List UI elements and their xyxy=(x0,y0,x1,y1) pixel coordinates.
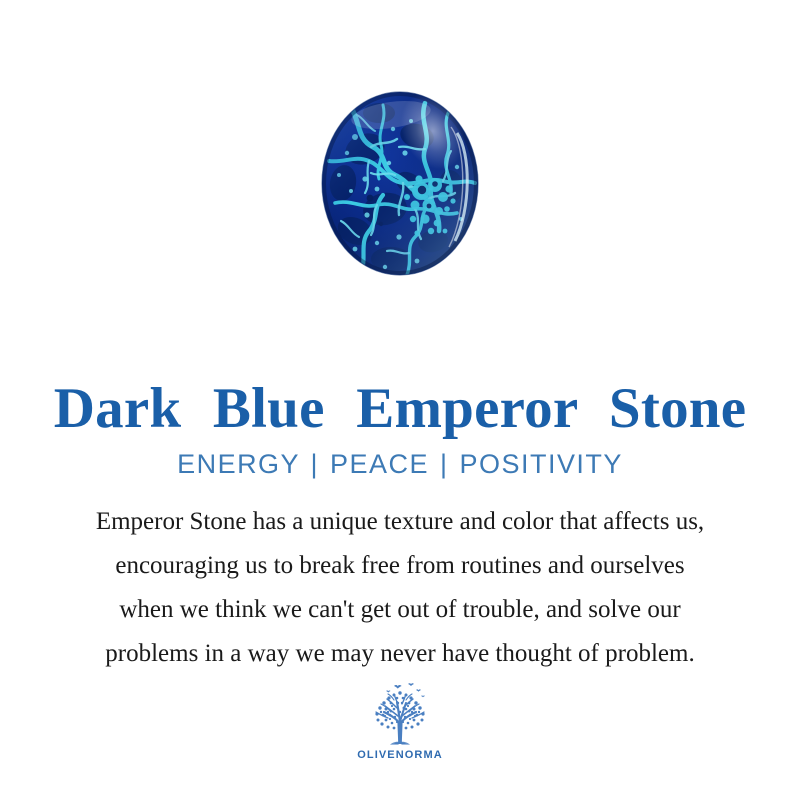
description-line: problems in a way we may never have thou… xyxy=(0,632,800,676)
gemstone-image xyxy=(321,91,479,276)
keyword-energy: ENERGY xyxy=(177,449,299,479)
keyword-separator-2: | xyxy=(438,449,451,479)
gemstone-svg xyxy=(321,91,479,276)
description-line: encouraging us to break free from routin… xyxy=(0,544,800,588)
description-line: when we think we can't get out of troubl… xyxy=(0,588,800,632)
product-info-card: Dark Blue Emperor Stone ENERGY | PEACE |… xyxy=(0,0,800,800)
keyword-peace: PEACE xyxy=(330,449,429,479)
keyword-list: ENERGY | PEACE | POSITIVITY xyxy=(0,448,800,480)
brand-logo: OLIVENORMA xyxy=(0,682,800,761)
description-text: Emperor Stone has a unique texture and c… xyxy=(0,500,800,676)
page-title: Dark Blue Emperor Stone xyxy=(0,375,800,442)
brand-wordmark: OLIVENORMA xyxy=(357,750,443,761)
product-image-area xyxy=(0,88,800,278)
tree-of-life-icon xyxy=(364,682,436,748)
keyword-positivity: POSITIVITY xyxy=(460,449,623,479)
keyword-separator-1: | xyxy=(309,449,322,479)
description-line: Emperor Stone has a unique texture and c… xyxy=(0,500,800,544)
